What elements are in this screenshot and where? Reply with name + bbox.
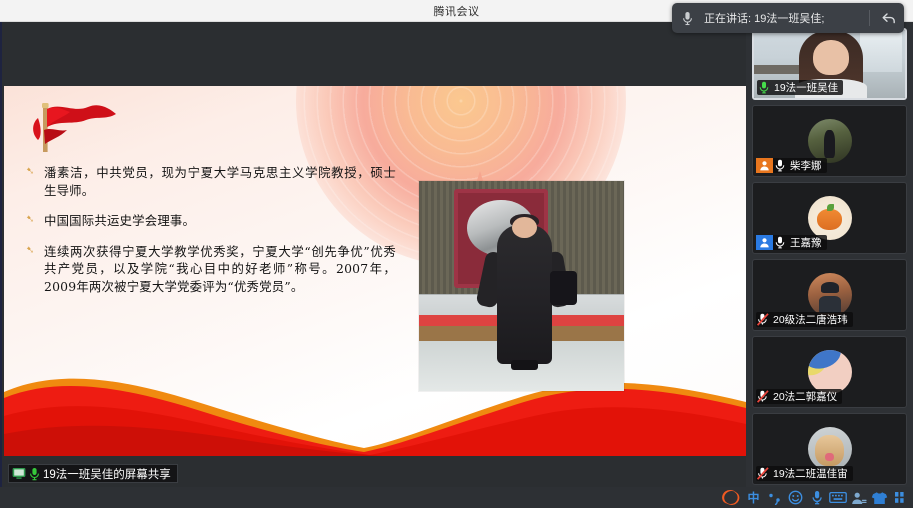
participant-nameplate: 王嘉豫 — [756, 235, 827, 250]
participant-name: 20法二郭嘉仪 — [770, 389, 837, 404]
back-arrow-icon[interactable] — [874, 12, 904, 25]
participant-nameplate: 柴李娜 — [756, 158, 827, 173]
red-flag-icon — [26, 100, 118, 154]
participant-rail[interactable]: 19法一班吴佳 — [746, 22, 913, 487]
photo-person-shoes — [511, 360, 538, 371]
screen-share-status[interactable]: 19法一班吴佳的屏幕共享 — [8, 464, 178, 483]
pill-divider — [869, 10, 870, 26]
microphone-muted-icon — [756, 467, 770, 480]
microphone-icon[interactable] — [806, 487, 827, 508]
participant-tile[interactable]: 王嘉豫 — [752, 182, 907, 254]
shared-screen-stage[interactable]: ➷ 潘素洁，中共党员，现为宁夏大学马克思主义学院教授，硕士生导师。 ➷ 中国国际… — [0, 22, 746, 487]
participant-name: 19法二班温佳宙 — [770, 466, 848, 481]
participant-tile[interactable]: 19法一班吴佳 — [752, 28, 907, 100]
slide-bullet: ➷ 连续两次获得宁夏大学教学优秀奖，宁夏大学“创先争优”优秀共产党员，以及学院“… — [26, 243, 396, 296]
windows-taskbar[interactable]: 中 — [0, 487, 913, 508]
speaking-indicator[interactable]: 正在讲话: 19法一班吴佳; — [672, 3, 904, 33]
participant-avatar — [808, 427, 852, 471]
video-face — [813, 40, 849, 75]
participant-name: 柴李娜 — [787, 158, 822, 173]
bullet-marker-icon: ➷ — [26, 243, 39, 296]
photo-person-body — [497, 225, 552, 364]
photo-person-head — [512, 217, 537, 238]
presenter-photo — [419, 181, 624, 391]
participant-tile[interactable]: 20法二郭嘉仪 — [752, 336, 907, 408]
participant-tile[interactable]: 19法二班温佳宙 — [752, 413, 907, 485]
shirt-icon[interactable] — [869, 487, 890, 508]
participant-avatar — [808, 196, 852, 240]
user-icon[interactable] — [848, 487, 869, 508]
participant-name: 20级法二唐浩玮 — [770, 312, 848, 327]
participant-nameplate: 19法二班温佳宙 — [756, 466, 853, 481]
participant-avatar — [808, 273, 852, 317]
tencent-meeting-window: 腾讯会议 正在讲话: 19法一班吴佳; — [0, 0, 913, 508]
participant-tile[interactable]: 20级法二唐浩玮 — [752, 259, 907, 331]
participant-nameplate: 20级法二唐浩玮 — [756, 312, 853, 327]
microphone-icon — [757, 81, 771, 94]
sogou-ime-toolbar[interactable]: 中 — [717, 487, 913, 508]
video-window — [860, 30, 902, 72]
participant-name: 19法一班吴佳 — [771, 80, 838, 95]
smiley-icon[interactable] — [785, 487, 806, 508]
microphone-muted-icon — [756, 390, 770, 403]
microphone-icon — [672, 11, 702, 26]
speaking-label: 正在讲话: 19法一班吴佳; — [702, 10, 865, 26]
slide-bullet-text: 中国国际共运史学会理事。 — [44, 212, 195, 230]
microphone-icon — [773, 236, 787, 249]
participant-name: 王嘉豫 — [787, 235, 822, 250]
ime-mode-toggle[interactable]: 中 — [743, 487, 764, 508]
slide-bullet-text: 潘素洁，中共党员，现为宁夏大学马克思主义学院教授，硕士生导师。 — [44, 164, 396, 199]
slide-body-text: ➷ 潘素洁，中共党员，现为宁夏大学马克思主义学院教授，硕士生导师。 ➷ 中国国际… — [26, 164, 396, 309]
participant-nameplate: 19法一班吴佳 — [757, 80, 843, 95]
bullet-marker-icon: ➷ — [26, 164, 39, 199]
screen-share-label: 19法一班吴佳的屏幕共享 — [43, 466, 171, 482]
screen-share-icon — [12, 467, 26, 480]
participant-avatar — [808, 350, 852, 394]
microphone-icon — [773, 159, 787, 172]
keyboard-icon[interactable] — [827, 487, 848, 508]
participant-nameplate: 20法二郭嘉仪 — [756, 389, 842, 404]
punctuation-icon[interactable] — [764, 487, 785, 508]
red-silk-waves-icon — [4, 356, 746, 456]
sogou-logo-icon[interactable] — [717, 487, 743, 508]
microphone-muted-icon — [756, 313, 770, 326]
slide-bullet: ➷ 潘素洁，中共党员，现为宁夏大学马克思主义学院教授，硕士生导师。 — [26, 164, 396, 199]
menu-icon[interactable] — [890, 487, 911, 508]
app-title: 腾讯会议 — [434, 3, 480, 19]
presentation-slide: ➷ 潘素洁，中共党员，现为宁夏大学马克思主义学院教授，硕士生导师。 ➷ 中国国际… — [4, 86, 746, 456]
participant-tile[interactable]: 柴李娜 — [752, 105, 907, 177]
ime-mode-label: 中 — [747, 489, 759, 506]
bullet-marker-icon: ➷ — [26, 212, 39, 230]
cohost-badge-icon — [756, 235, 773, 250]
host-badge-icon — [756, 158, 773, 173]
slide-bullet: ➷ 中国国际共运史学会理事。 — [26, 212, 396, 230]
microphone-icon — [29, 467, 40, 481]
photo-handbag — [550, 271, 577, 305]
participant-avatar — [808, 119, 852, 163]
slide-bullet-text: 连续两次获得宁夏大学教学优秀奖，宁夏大学“创先争优”优秀共产党员，以及学院“我心… — [44, 243, 396, 296]
